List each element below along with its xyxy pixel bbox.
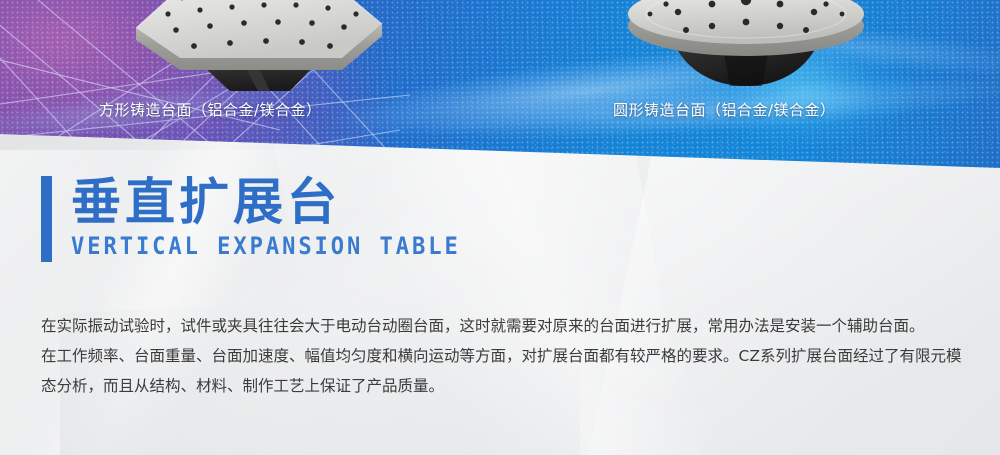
title-accent-bar <box>41 176 52 262</box>
description-text: 在实际振动试验时，试件或夹具往往会大于电动台动圈台面，这时就需要对原来的台面进行… <box>41 311 975 401</box>
square-casting-table-image <box>120 0 390 108</box>
product-feature-page: 方形铸造台面（铝合金/镁合金） 圆形铸造台面（铝合金/镁合金） 垂直扩展台 VE… <box>0 0 1000 455</box>
description-paragraph-2: 在工作频率、台面重量、台面加速度、幅值均匀度和横向运动等方面，对扩展台面都有较严… <box>41 341 975 401</box>
description-paragraph-1: 在实际振动试验时，试件或夹具往往会大于电动台动圈台面，这时就需要对原来的台面进行… <box>41 311 975 341</box>
background-facet-3 <box>585 140 1000 455</box>
banner-caption-left: 方形铸造台面（铝合金/镁合金） <box>99 99 322 120</box>
background-facet-2 <box>270 120 690 455</box>
round-casting-table-image <box>612 0 880 98</box>
page-subtitle: VERTICAL EXPANSION TABLE <box>71 231 461 261</box>
page-title-block: 垂直扩展台 VERTICAL EXPANSION TABLE <box>41 174 495 262</box>
banner-caption-right: 圆形铸造台面（铝合金/镁合金） <box>613 99 836 120</box>
page-title: 垂直扩展台 <box>71 174 495 230</box>
